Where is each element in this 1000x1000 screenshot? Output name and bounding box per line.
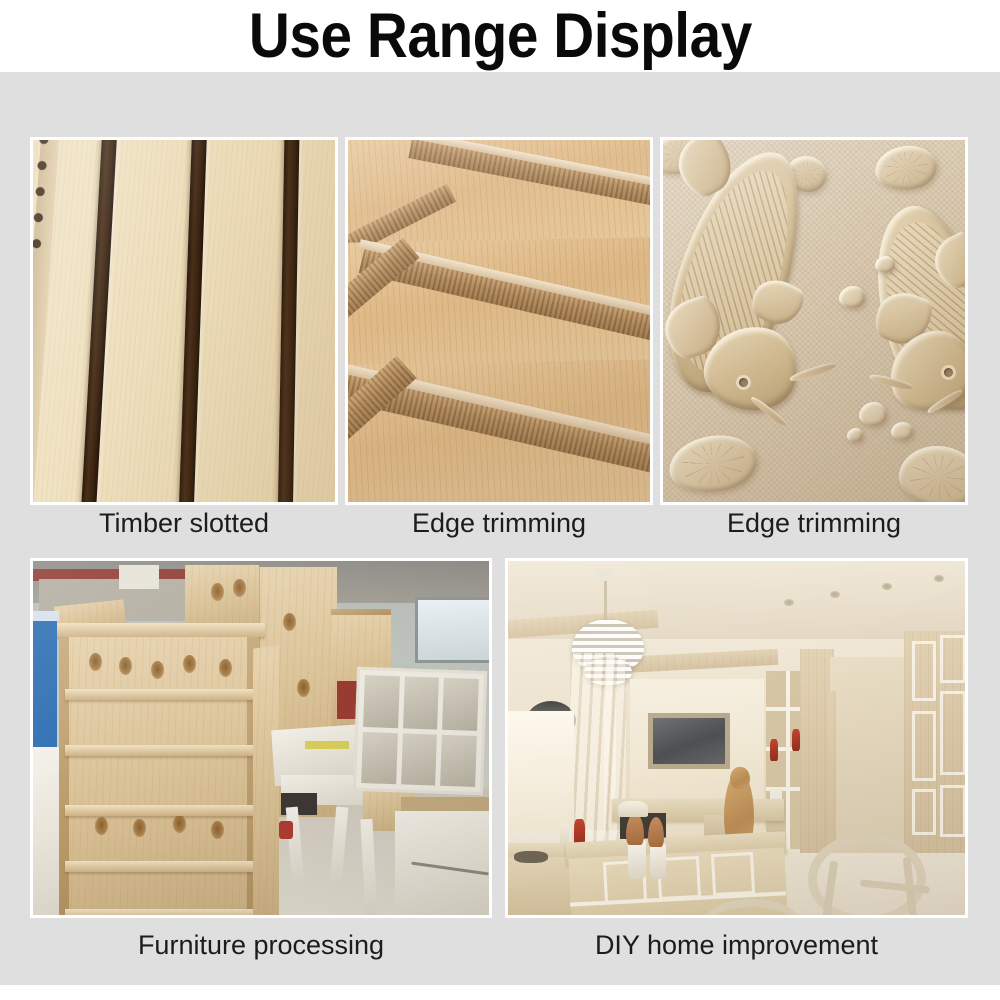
tile-caption-furniture-processing: Furniture processing: [30, 930, 492, 960]
tile-caption-diy-home-improvement: DIY home improvement: [505, 930, 968, 960]
photo-carved-koi-relief: [663, 140, 965, 502]
gallery-tile-furniture-processing[interactable]: [30, 558, 492, 918]
photo-stacked-boards: [348, 140, 650, 502]
product-detail-image: Use Range Display: [0, 0, 1000, 1000]
photo-interior-room: [508, 561, 965, 915]
gallery-tile-edge-trimming-carving[interactable]: [660, 137, 968, 505]
header-band: Use Range Display: [0, 0, 1000, 72]
gallery-tile-timber-slotted[interactable]: [30, 137, 338, 505]
page-title: Use Range Display: [249, 3, 752, 69]
gallery-tile-diy-home-improvement[interactable]: [505, 558, 968, 918]
tile-caption-timber-slotted: Timber slotted: [30, 508, 338, 538]
tile-caption-edge-trimming-carving: Edge trimming: [660, 508, 968, 538]
photo-furniture-workshop: [33, 561, 489, 915]
footer-band: [0, 985, 1000, 1000]
photo-timber-slotted: [33, 140, 335, 502]
gallery-tile-edge-trimming-boards[interactable]: [345, 137, 653, 505]
tile-caption-edge-trimming-boards: Edge trimming: [345, 508, 653, 538]
